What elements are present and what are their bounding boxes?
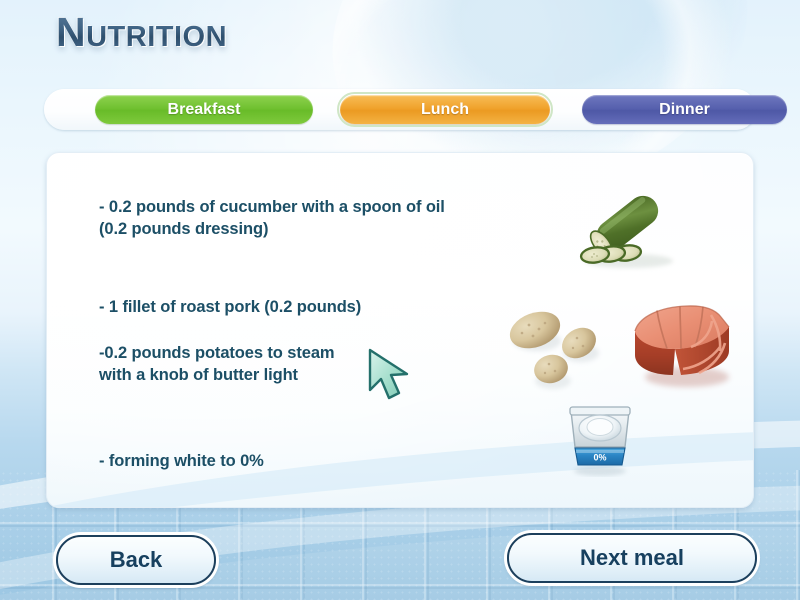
tab-lunch[interactable]: Lunch — [340, 95, 550, 124]
next-meal-button[interactable]: Next meal — [507, 533, 757, 583]
roast-pork-icon — [625, 293, 745, 393]
tab-breakfast-label: Breakfast — [168, 101, 241, 119]
meal-tabbar: Breakfast Lunch Dinner — [44, 89, 756, 130]
list-item: - 1 fillet of roast pork (0.2 pounds) — [99, 297, 361, 319]
back-button-label: Back — [110, 547, 163, 573]
tab-dinner-label: Dinner — [659, 101, 710, 119]
list-item: - 0.2 pounds of cucumber with a spoon of… — [99, 197, 445, 241]
page-title: Nutrition — [56, 9, 227, 56]
list-item: -0.2 pounds potatoes to steam with a kno… — [99, 343, 334, 387]
yogurt-percent-label: 0% — [593, 453, 606, 463]
cucumber-icon — [567, 191, 687, 276]
meal-content-panel: - 0.2 pounds of cucumber with a spoon of… — [46, 152, 754, 508]
tab-dinner[interactable]: Dinner — [582, 95, 787, 124]
nutrition-screen: Nutrition Breakfast Lunch Dinner - 0.2 p… — [0, 0, 800, 600]
next-meal-button-label: Next meal — [580, 545, 684, 571]
yogurt-tub-icon: 0% — [565, 401, 635, 477]
tab-lunch-label: Lunch — [421, 101, 469, 119]
back-button[interactable]: Back — [56, 535, 216, 585]
tab-breakfast[interactable]: Breakfast — [95, 95, 313, 124]
potatoes-icon — [507, 293, 617, 393]
list-item: - forming white to 0% — [99, 451, 264, 473]
